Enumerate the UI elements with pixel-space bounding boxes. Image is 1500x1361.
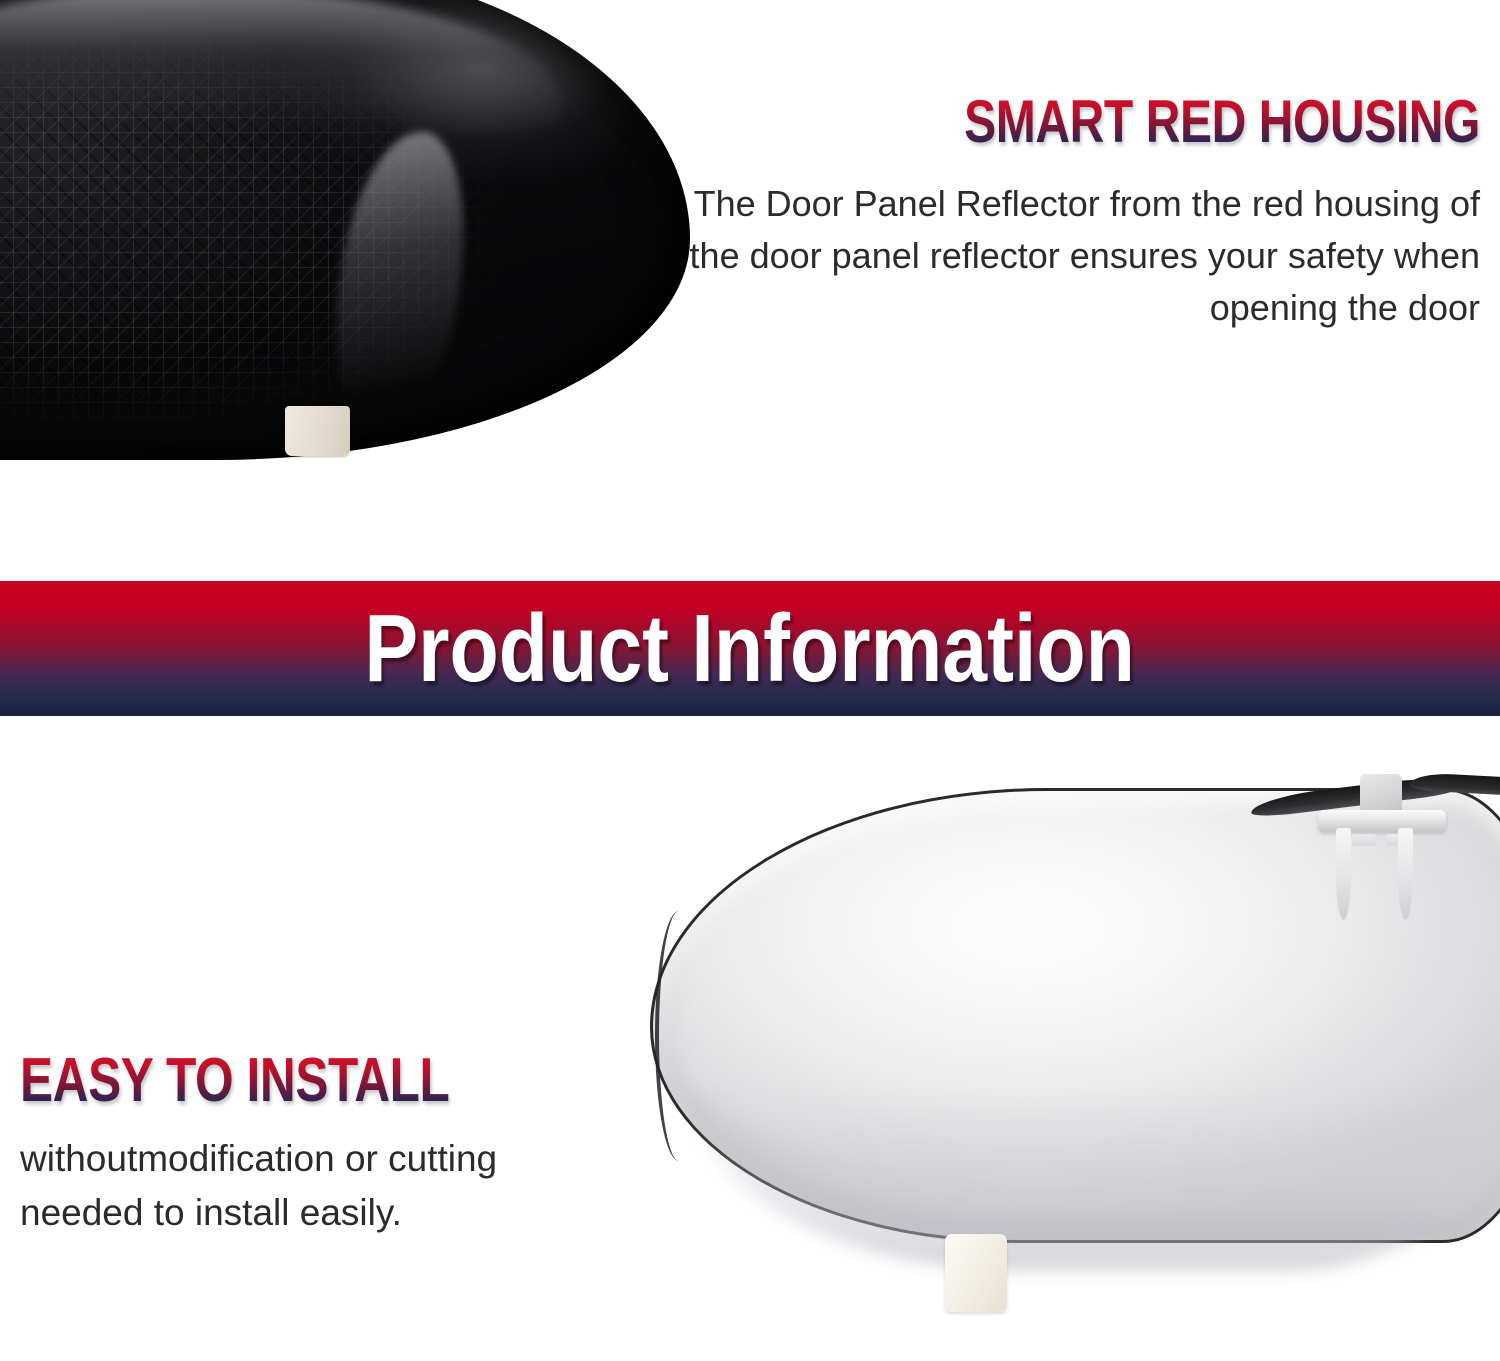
smart-red-housing-copy: SMART RED HOUSING The Door Panel Reflect… — [680, 88, 1480, 334]
reflector-lens-body — [0, 0, 690, 460]
clip-icon — [1310, 774, 1450, 934]
product-infographic-page: SMART RED HOUSING The Door Panel Reflect… — [0, 0, 1500, 1361]
banner-title: Product Information — [365, 597, 1136, 701]
peg-icon — [945, 1234, 1007, 1312]
housing-left-edge — [655, 911, 695, 1161]
smart-red-housing-heading: SMART RED HOUSING — [840, 88, 1480, 156]
product-information-banner: Product Information — [0, 581, 1500, 716]
easy-to-install-heading: EASY TO INSTALL — [20, 1046, 516, 1116]
clip-prong-right — [1398, 828, 1413, 920]
easy-to-install-paragraph-line-1: withoutmodification or cutting — [20, 1138, 497, 1179]
clip-prong-left — [1336, 828, 1351, 920]
housing-bottom-shading — [693, 1091, 1500, 1271]
product-photo-reflector-rear — [650, 766, 1500, 1286]
clip-notch-left — [1352, 834, 1376, 846]
smart-red-housing-paragraph: The Door Panel Reflector from the red ho… — [680, 178, 1480, 334]
gloss-top-rim-highlight — [0, 0, 560, 136]
section-easy-to-install: EASY TO INSTALL withoutmodification or c… — [0, 716, 1500, 1361]
section-smart-red-housing: SMART RED HOUSING The Door Panel Reflect… — [0, 0, 1500, 581]
easy-to-install-copy: EASY TO INSTALL withoutmodification or c… — [20, 1046, 640, 1240]
peg-icon — [285, 406, 350, 456]
product-photo-black-reflector-front — [0, 0, 690, 500]
easy-to-install-paragraph: withoutmodification or cutting needed to… — [20, 1132, 640, 1240]
easy-to-install-paragraph-line-2: needed to install easily. — [20, 1192, 402, 1233]
